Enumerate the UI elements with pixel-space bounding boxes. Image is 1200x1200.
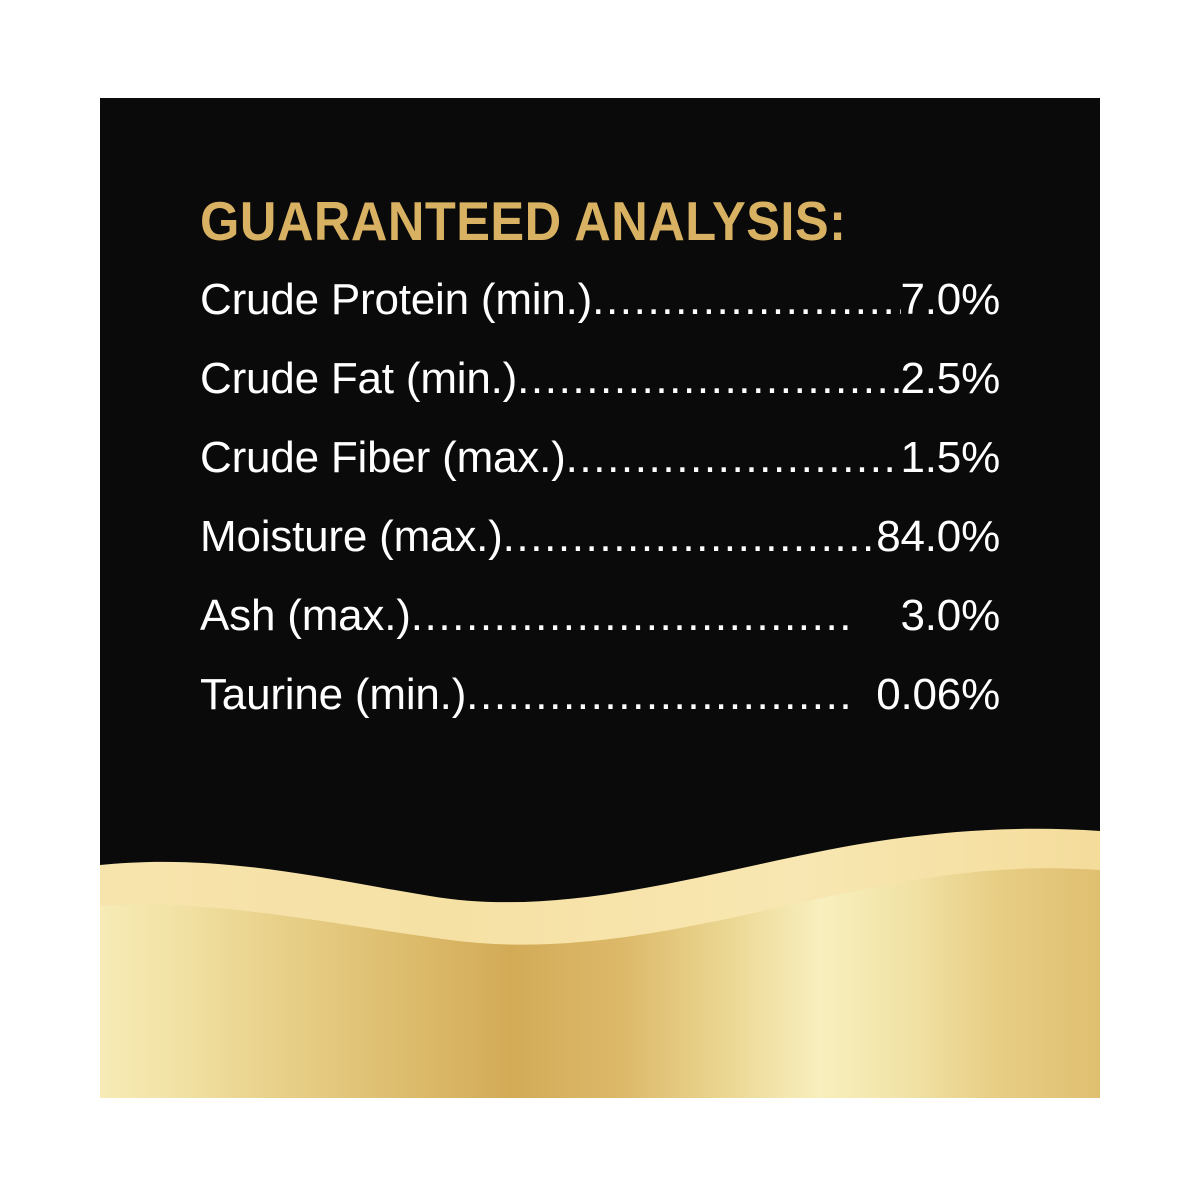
nutrient-value: 2.5% xyxy=(901,357,1001,401)
dot-leader: .......................... xyxy=(592,278,900,322)
analysis-table: Crude Protein (min.) ...................… xyxy=(200,278,1000,752)
table-row: Crude Fiber (max.) .....................… xyxy=(200,436,1000,515)
nutrient-label: Taurine (min.) xyxy=(200,673,466,717)
nutrient-label: Crude Protein (min.) xyxy=(200,278,592,322)
table-row: Crude Protein (min.) ...................… xyxy=(200,278,1000,357)
nutrient-value: 84.0% xyxy=(876,515,1000,559)
nutrient-label: Crude Fat (min.) xyxy=(200,357,517,401)
dot-leader: ............................ xyxy=(503,515,877,559)
nutrient-label: Crude Fiber (max.) xyxy=(200,436,566,480)
dot-leader: ................................ xyxy=(411,594,901,638)
table-row: Taurine (min.) .........................… xyxy=(200,673,1000,752)
nutrient-value: 1.5% xyxy=(901,436,1001,480)
nutrient-value: 3.0% xyxy=(901,594,1001,638)
gold-wave-decoration xyxy=(100,828,1100,1098)
page-title: GUARANTEED ANALYSIS: xyxy=(200,194,846,249)
dot-leader: ........................... xyxy=(566,436,901,480)
nutrient-value: 7.0% xyxy=(901,278,1001,322)
table-row: Crude Fat (min.) .......................… xyxy=(200,357,1000,436)
nutrient-label: Moisture (max.) xyxy=(200,515,503,559)
dot-leader: ............................ xyxy=(466,673,876,717)
nutrient-label: Ash (max.) xyxy=(200,594,411,638)
guaranteed-analysis-panel: GUARANTEED ANALYSIS: Crude Protein (min.… xyxy=(100,98,1100,1098)
nutrient-value: 0.06% xyxy=(876,673,1000,717)
dot-leader: .............................. xyxy=(517,357,900,401)
table-row: Ash (max.) .............................… xyxy=(200,594,1000,673)
table-row: Moisture (max.) ........................… xyxy=(200,515,1000,594)
label-canvas: GUARANTEED ANALYSIS: Crude Protein (min.… xyxy=(0,0,1200,1200)
